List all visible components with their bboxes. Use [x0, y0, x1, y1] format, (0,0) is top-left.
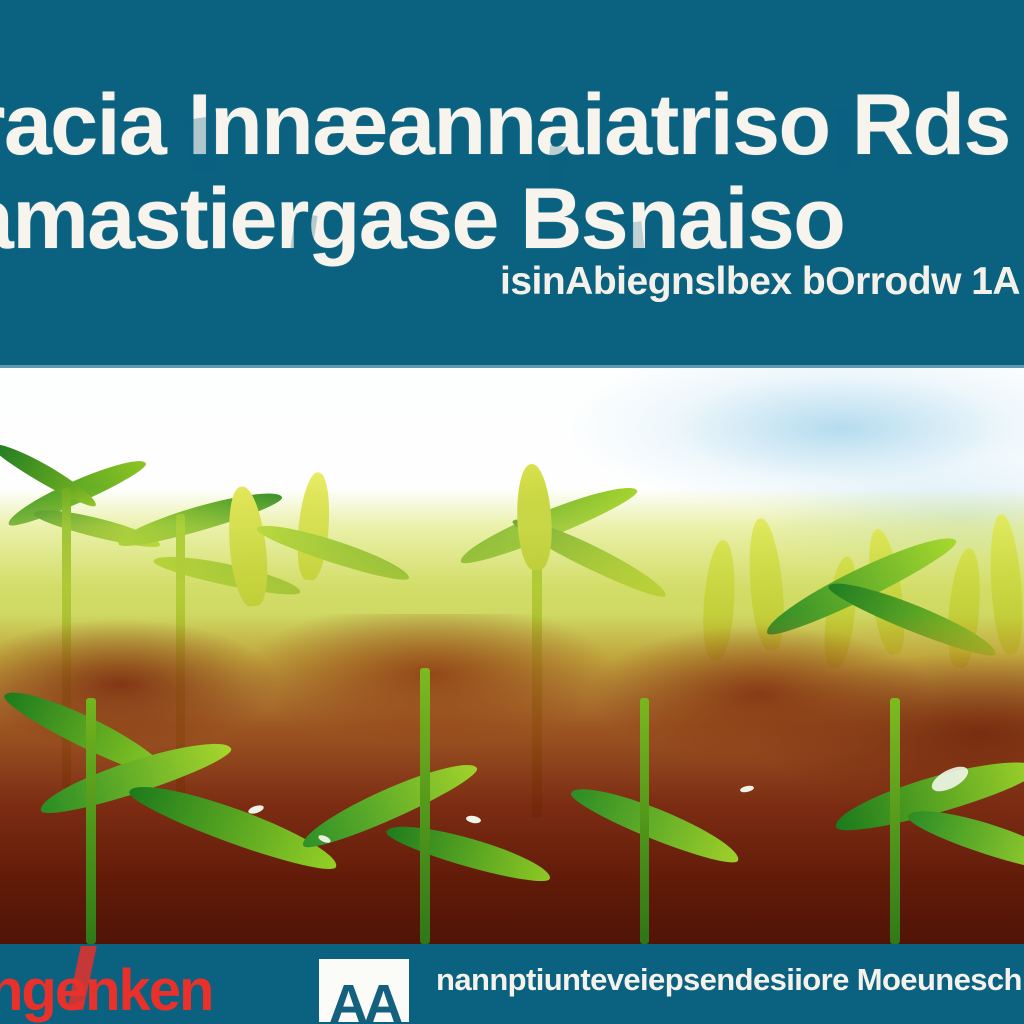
partner-logo-text: ngenken: [0, 958, 213, 1023]
crop-field-photo: [0, 368, 1024, 944]
headline-subtitle: isinAbiegnslbex bOrrodw 1A: [500, 262, 1020, 301]
aa-badge[interactable]: AA: [317, 957, 411, 1024]
poster-root: racia Innæannaiatriso Rds amastiergase B…: [0, 0, 1024, 1024]
aa-badge-mark: AA: [329, 977, 399, 1024]
header-banner: racia Innæannaiatriso Rds amastiergase B…: [0, 0, 1024, 368]
headline-line-1: racia Innæannaiatriso Rds: [0, 82, 1010, 168]
partner-logo-red[interactable]: ngenken: [0, 962, 213, 1020]
footer-caption: nannptiunteveiepsendesiiore Moeunesch in…: [436, 964, 1024, 995]
headline-line-2: amastiergase Bsnaiso: [0, 176, 844, 262]
understory-layer: [0, 614, 1024, 944]
